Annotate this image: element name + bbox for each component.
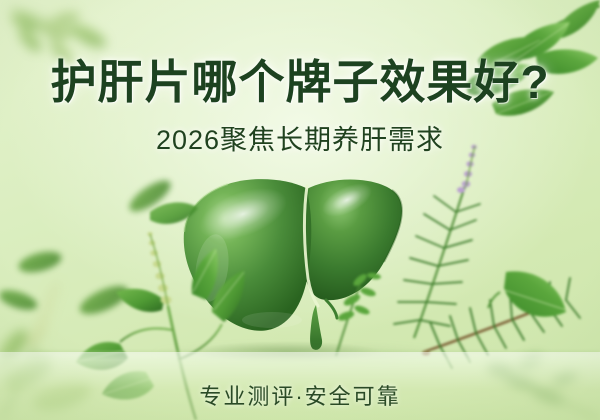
leaf-small-top-left-icon (150, 202, 198, 224)
headline-block: 护肝片哪个牌子效果好? 2026聚焦长期养肝需求 (0, 58, 600, 157)
floating-leaf-right-icon (488, 271, 566, 316)
poster-canvas: 护肝片哪个牌子效果好? 2026聚焦长期养肝需求 专业测评·安全可靠 (0, 0, 600, 420)
page-subtitle: 2026聚焦长期养肝需求 (0, 118, 600, 157)
tagline: 专业测评·安全可靠 (0, 379, 600, 411)
page-title: 护肝片哪个牌子效果好? (0, 58, 600, 106)
rosemary-sprig-right-icon (394, 145, 480, 338)
parsley-sprig-center-icon (336, 272, 381, 356)
